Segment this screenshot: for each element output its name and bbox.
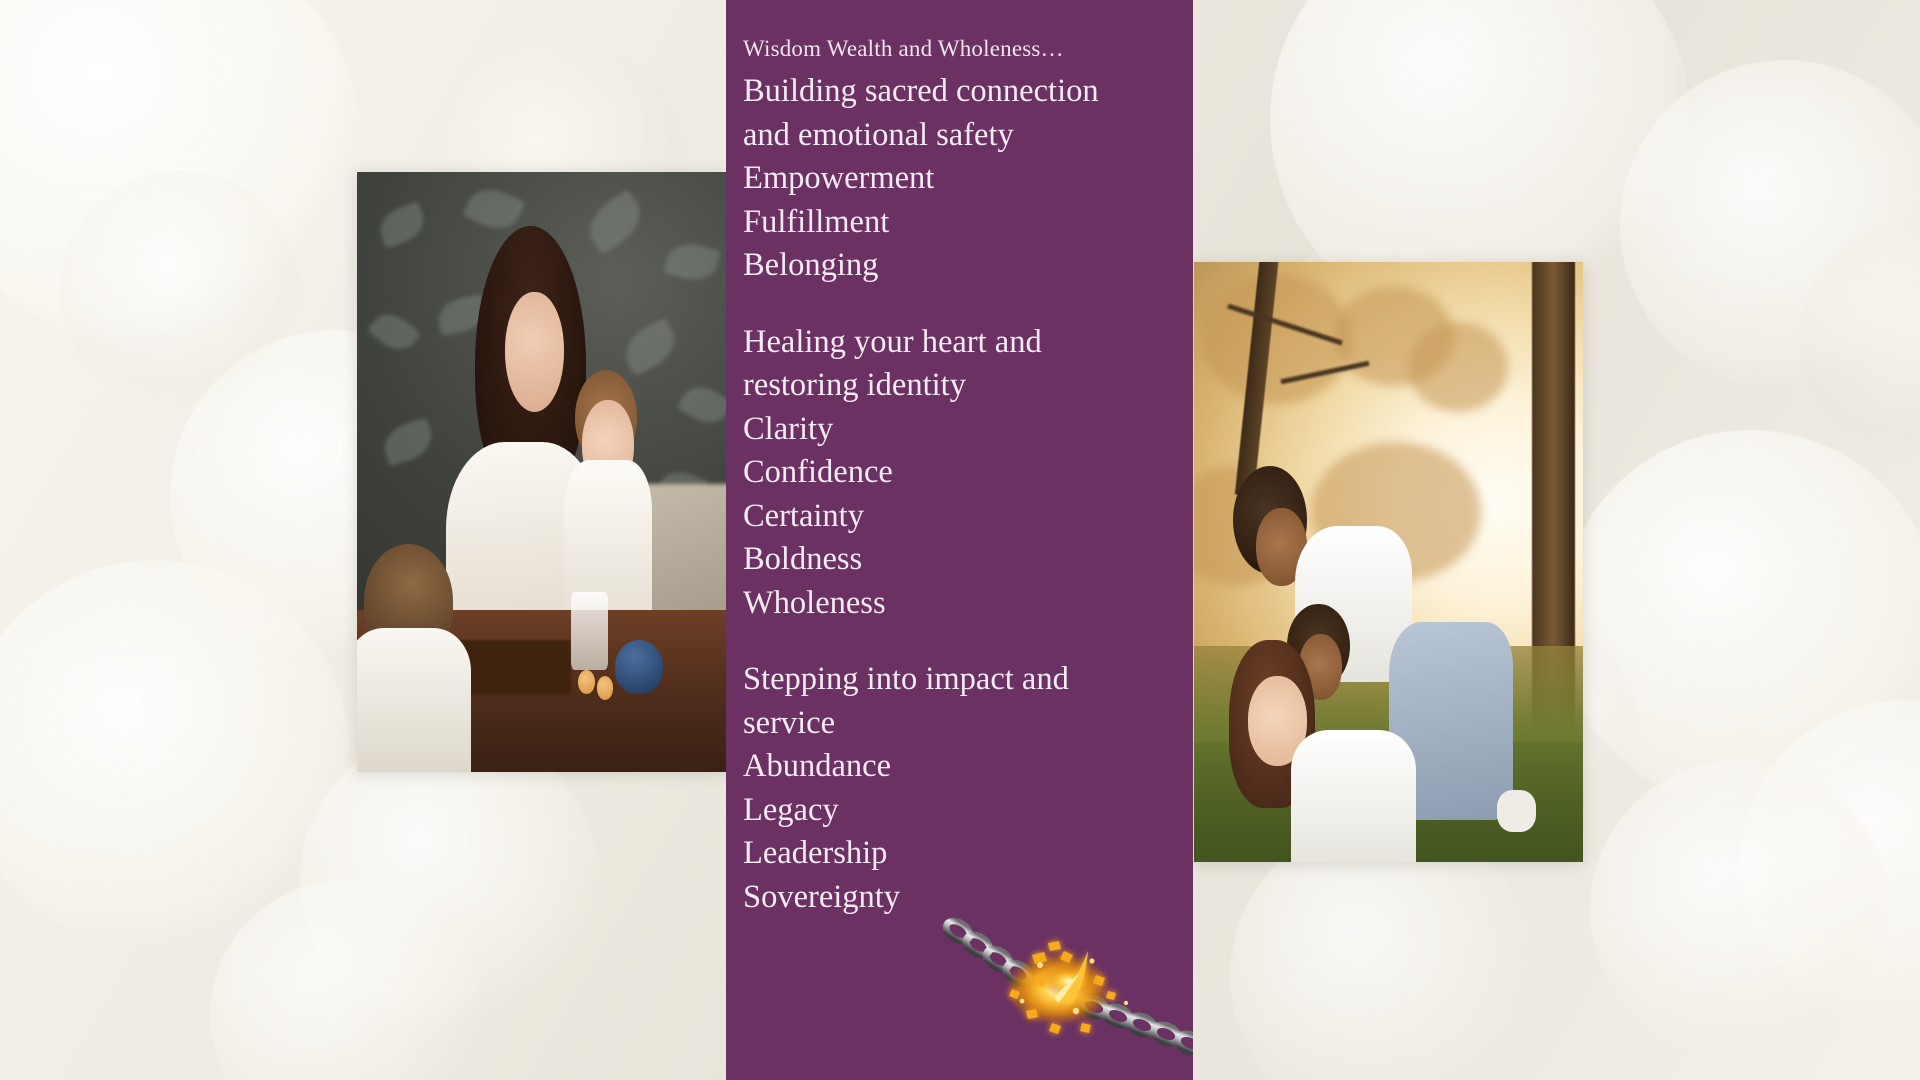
group-1-heading-line-2: and emotional safety: [743, 114, 1183, 158]
right-photo-mother-shirt: [1291, 730, 1415, 862]
group-1-heading-line-1: Building sacred connection: [743, 70, 1183, 114]
group-2-heading-line-1: Healing your heart and: [743, 321, 1183, 365]
group-3-item-1: Abundance: [743, 745, 1183, 789]
group-2-heading-line-2: restoring identity: [743, 364, 1183, 408]
group-1-item-1: Empowerment: [743, 157, 1183, 201]
group-1-item-2: Fulfillment: [743, 201, 1183, 245]
text-group-1: Building sacred connection and emotional…: [743, 70, 1183, 288]
group-2-item-5: Wholeness: [743, 582, 1183, 626]
group-2-item-4: Boldness: [743, 538, 1183, 582]
group-3-heading-line-1: Stepping into impact and: [743, 658, 1183, 702]
group-2-item-1: Clarity: [743, 408, 1183, 452]
group-2-item-2: Confidence: [743, 451, 1183, 495]
left-photo-jar: [571, 592, 608, 670]
group-1-item-3: Belonging: [743, 244, 1183, 288]
left-photo-mother-and-children: [357, 172, 726, 772]
group-2-item-3: Certainty: [743, 495, 1183, 539]
right-photo-family-in-field: [1194, 262, 1583, 862]
panel-text-block: Wisdom Wealth and Wholeness… Building sa…: [743, 34, 1183, 919]
right-photo-shoe: [1497, 790, 1536, 832]
purple-text-panel: Wisdom Wealth and Wholeness… Building sa…: [726, 0, 1193, 1080]
breaking-chain-icon: [936, 915, 1193, 1055]
group-3-heading-line-2: service: [743, 702, 1183, 746]
left-photo-mother-face: [505, 292, 564, 412]
text-group-3: Stepping into impact and service Abundan…: [743, 658, 1183, 919]
slide-canvas: Wisdom Wealth and Wholeness… Building sa…: [0, 0, 1920, 1080]
group-3-item-4: Sovereignty: [743, 876, 1183, 920]
left-photo-bowl: [615, 640, 663, 694]
left-photo-boy-body: [357, 628, 471, 772]
text-group-2: Healing your heart and restoring identit…: [743, 321, 1183, 626]
group-3-item-3: Leadership: [743, 832, 1183, 876]
group-3-item-2: Legacy: [743, 789, 1183, 833]
panel-kicker: Wisdom Wealth and Wholeness…: [743, 34, 1183, 63]
